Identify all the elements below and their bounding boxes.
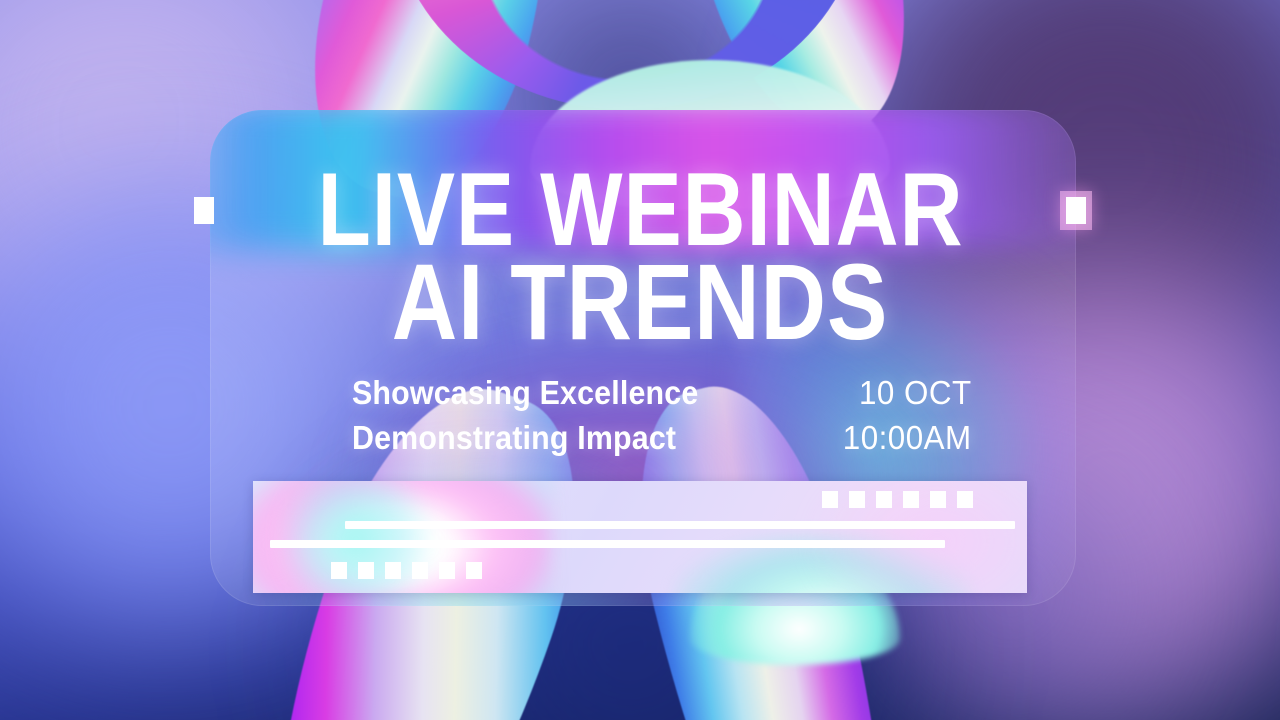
dot-square-icon (849, 491, 865, 508)
dot-square-icon (876, 491, 892, 508)
square-marker-left-icon (194, 197, 214, 224)
subtitle-block: Showcasing Excellence Demonstrating Impa… (352, 371, 698, 460)
dot-row-bottom (331, 562, 482, 579)
footer-panel (253, 481, 1027, 593)
poster-title-line2: AI TRENDS (102, 256, 1177, 349)
dot-row-top (822, 491, 973, 508)
dot-square-icon (439, 562, 455, 579)
subtitle-line2: Demonstrating Impact (352, 416, 698, 461)
subtitle-schedule-row: Showcasing Excellence Demonstrating Impa… (352, 371, 972, 460)
divider-bar-top (345, 521, 1015, 529)
dot-square-icon (331, 562, 347, 579)
dot-square-icon (930, 491, 946, 508)
dot-square-icon (358, 562, 374, 579)
schedule-date: 10 OCT (843, 371, 972, 416)
subtitle-line1: Showcasing Excellence (352, 371, 698, 416)
dot-square-icon (466, 562, 482, 579)
dot-square-icon (385, 562, 401, 579)
divider-bar-bottom (270, 540, 945, 548)
schedule-time: 10:00AM (843, 416, 972, 461)
webinar-poster: LIVE WEBINAR AI TRENDS Showcasing Excell… (0, 0, 1280, 720)
schedule-block: 10 OCT 10:00AM (843, 371, 972, 460)
square-marker-right-icon (1066, 197, 1086, 224)
dot-square-icon (412, 562, 428, 579)
dot-square-icon (822, 491, 838, 508)
dot-square-icon (903, 491, 919, 508)
dot-square-icon (957, 491, 973, 508)
